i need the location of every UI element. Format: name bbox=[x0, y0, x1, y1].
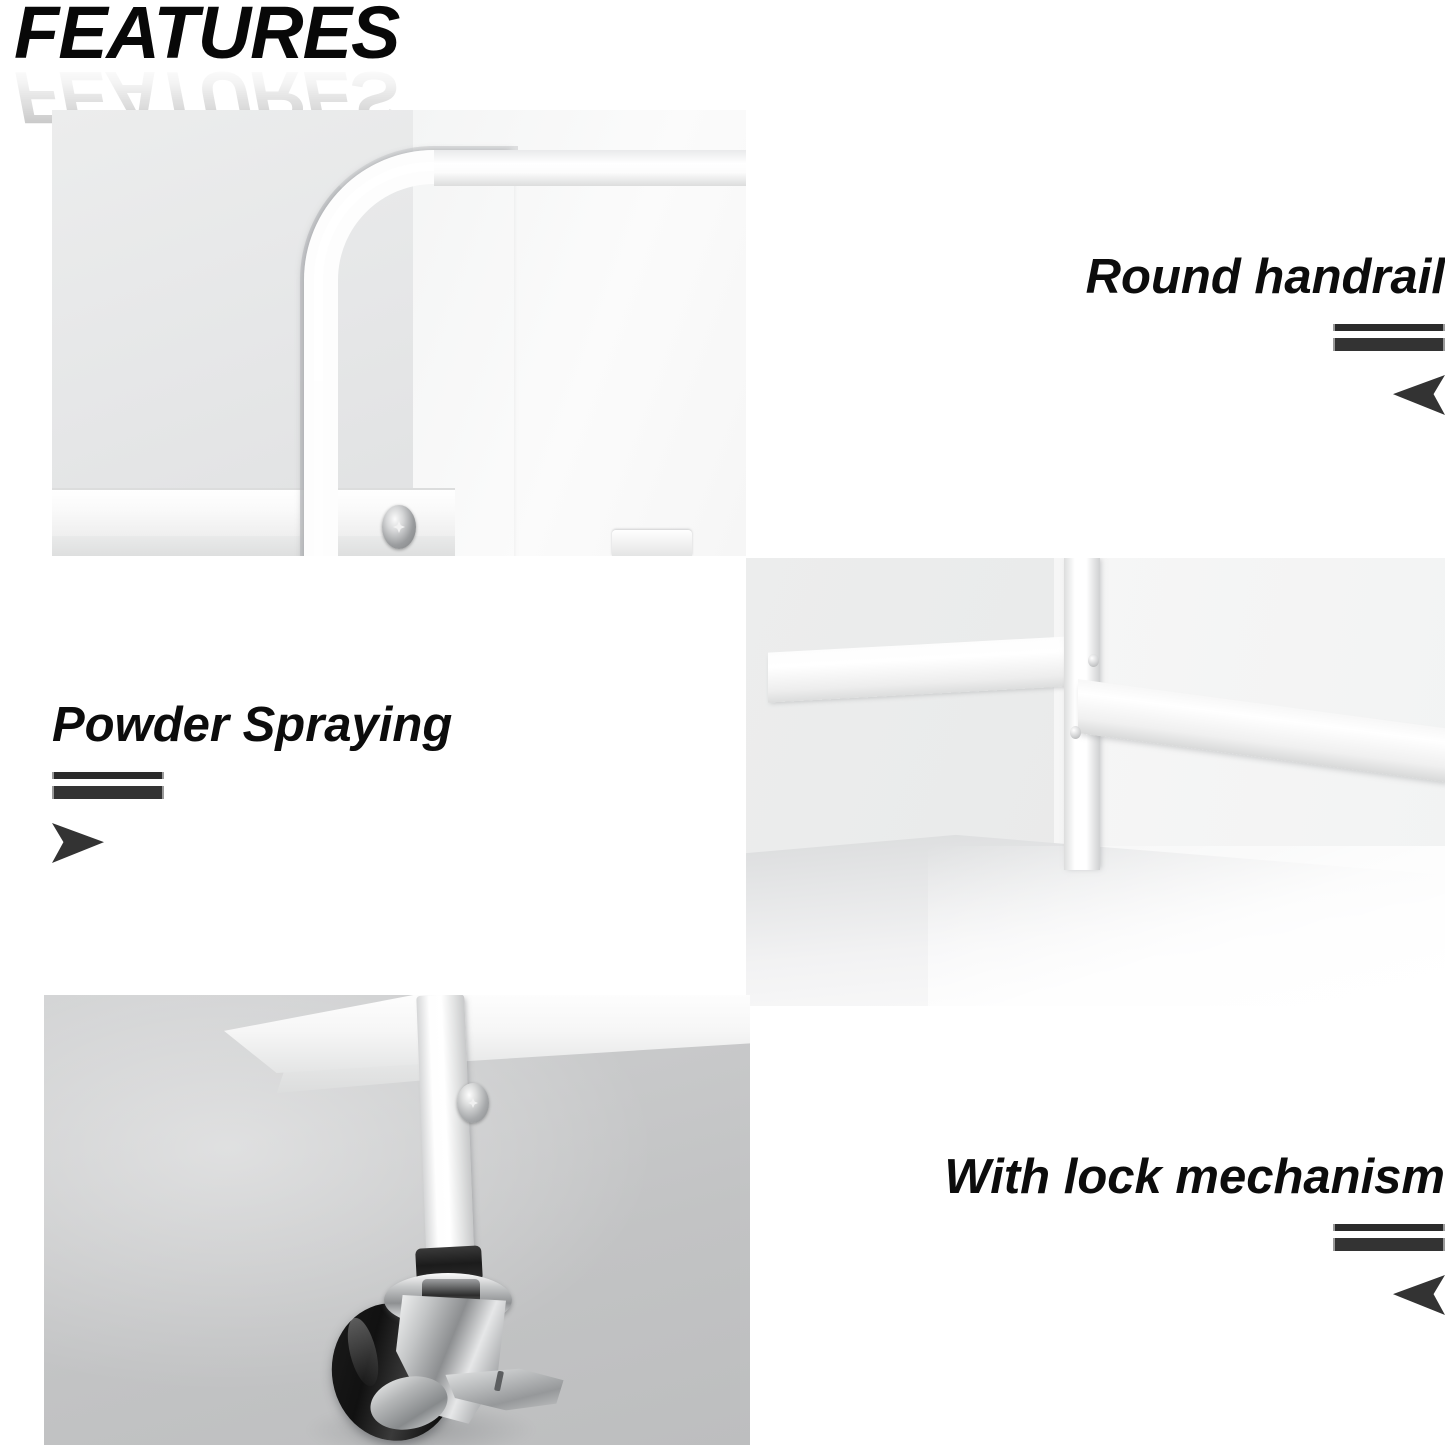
arrow-right-icon bbox=[52, 823, 104, 863]
handrail-tube-highlight bbox=[314, 162, 504, 556]
arrow-left-icon bbox=[1393, 375, 1445, 415]
callout-rule-with-lock-mechanism bbox=[1333, 1224, 1445, 1251]
callout-rule-round-handrail bbox=[1333, 324, 1445, 351]
rule-thin bbox=[52, 772, 164, 779]
caster-leg-screw bbox=[457, 1083, 489, 1123]
callout-label-round-handrail: Round handrail bbox=[1086, 252, 1445, 304]
rails-photo bbox=[746, 558, 1445, 1006]
handrail-tube-horizontal bbox=[434, 150, 746, 186]
callout-powder-spraying: Powder Spraying bbox=[52, 700, 512, 863]
rule-thick bbox=[1333, 338, 1445, 351]
handrail-photo bbox=[52, 110, 746, 556]
arrow-left-icon bbox=[1393, 1275, 1445, 1315]
callout-label-powder-spraying: Powder Spraying bbox=[52, 700, 452, 752]
rails-rivet-upper bbox=[1088, 654, 1099, 667]
handrail-screw bbox=[382, 505, 416, 549]
rule-thick bbox=[52, 786, 164, 799]
rails-deck-highlight bbox=[928, 846, 1445, 1006]
rule-thin bbox=[1333, 1224, 1445, 1231]
callout-rule-powder-spraying bbox=[52, 772, 164, 799]
rule-thin bbox=[1333, 324, 1445, 331]
callout-with-lock-mechanism: With lock mechanism bbox=[880, 1152, 1445, 1315]
callout-label-with-lock-mechanism: With lock mechanism bbox=[944, 1152, 1445, 1204]
handrail-bracket-clip bbox=[612, 530, 692, 556]
caster-photo bbox=[44, 995, 750, 1445]
callout-round-handrail: Round handrail bbox=[955, 252, 1445, 415]
rails-rivet-lower bbox=[1070, 726, 1081, 739]
rule-thick bbox=[1333, 1238, 1445, 1251]
feature-infographic: FEATURES FEATURES bbox=[0, 0, 1445, 1445]
